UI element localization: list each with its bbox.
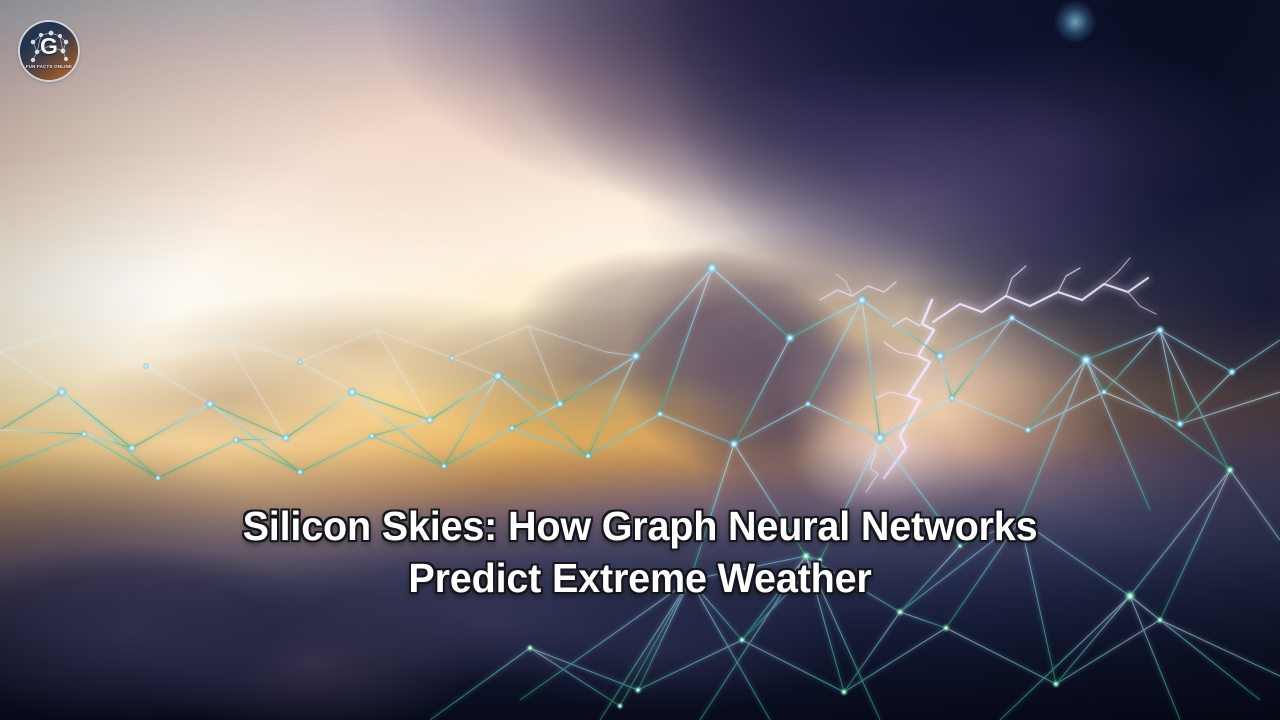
- logo-monogram: G: [20, 35, 78, 58]
- hero-banner: G FUN FACTS ONLINE Silicon Skies: How Gr…: [0, 0, 1280, 720]
- title-line-2: Predict Extreme Weather: [22, 552, 1257, 604]
- logo-wordmark: FUN FACTS ONLINE: [20, 64, 78, 69]
- fun-facts-online-logo[interactable]: G FUN FACTS ONLINE: [20, 22, 78, 80]
- page-title: Silicon Skies: How Graph Neural Networks…: [0, 500, 1280, 604]
- title-line-1: Silicon Skies: How Graph Neural Networks: [22, 500, 1257, 552]
- vignette-overlay: [0, 0, 1280, 720]
